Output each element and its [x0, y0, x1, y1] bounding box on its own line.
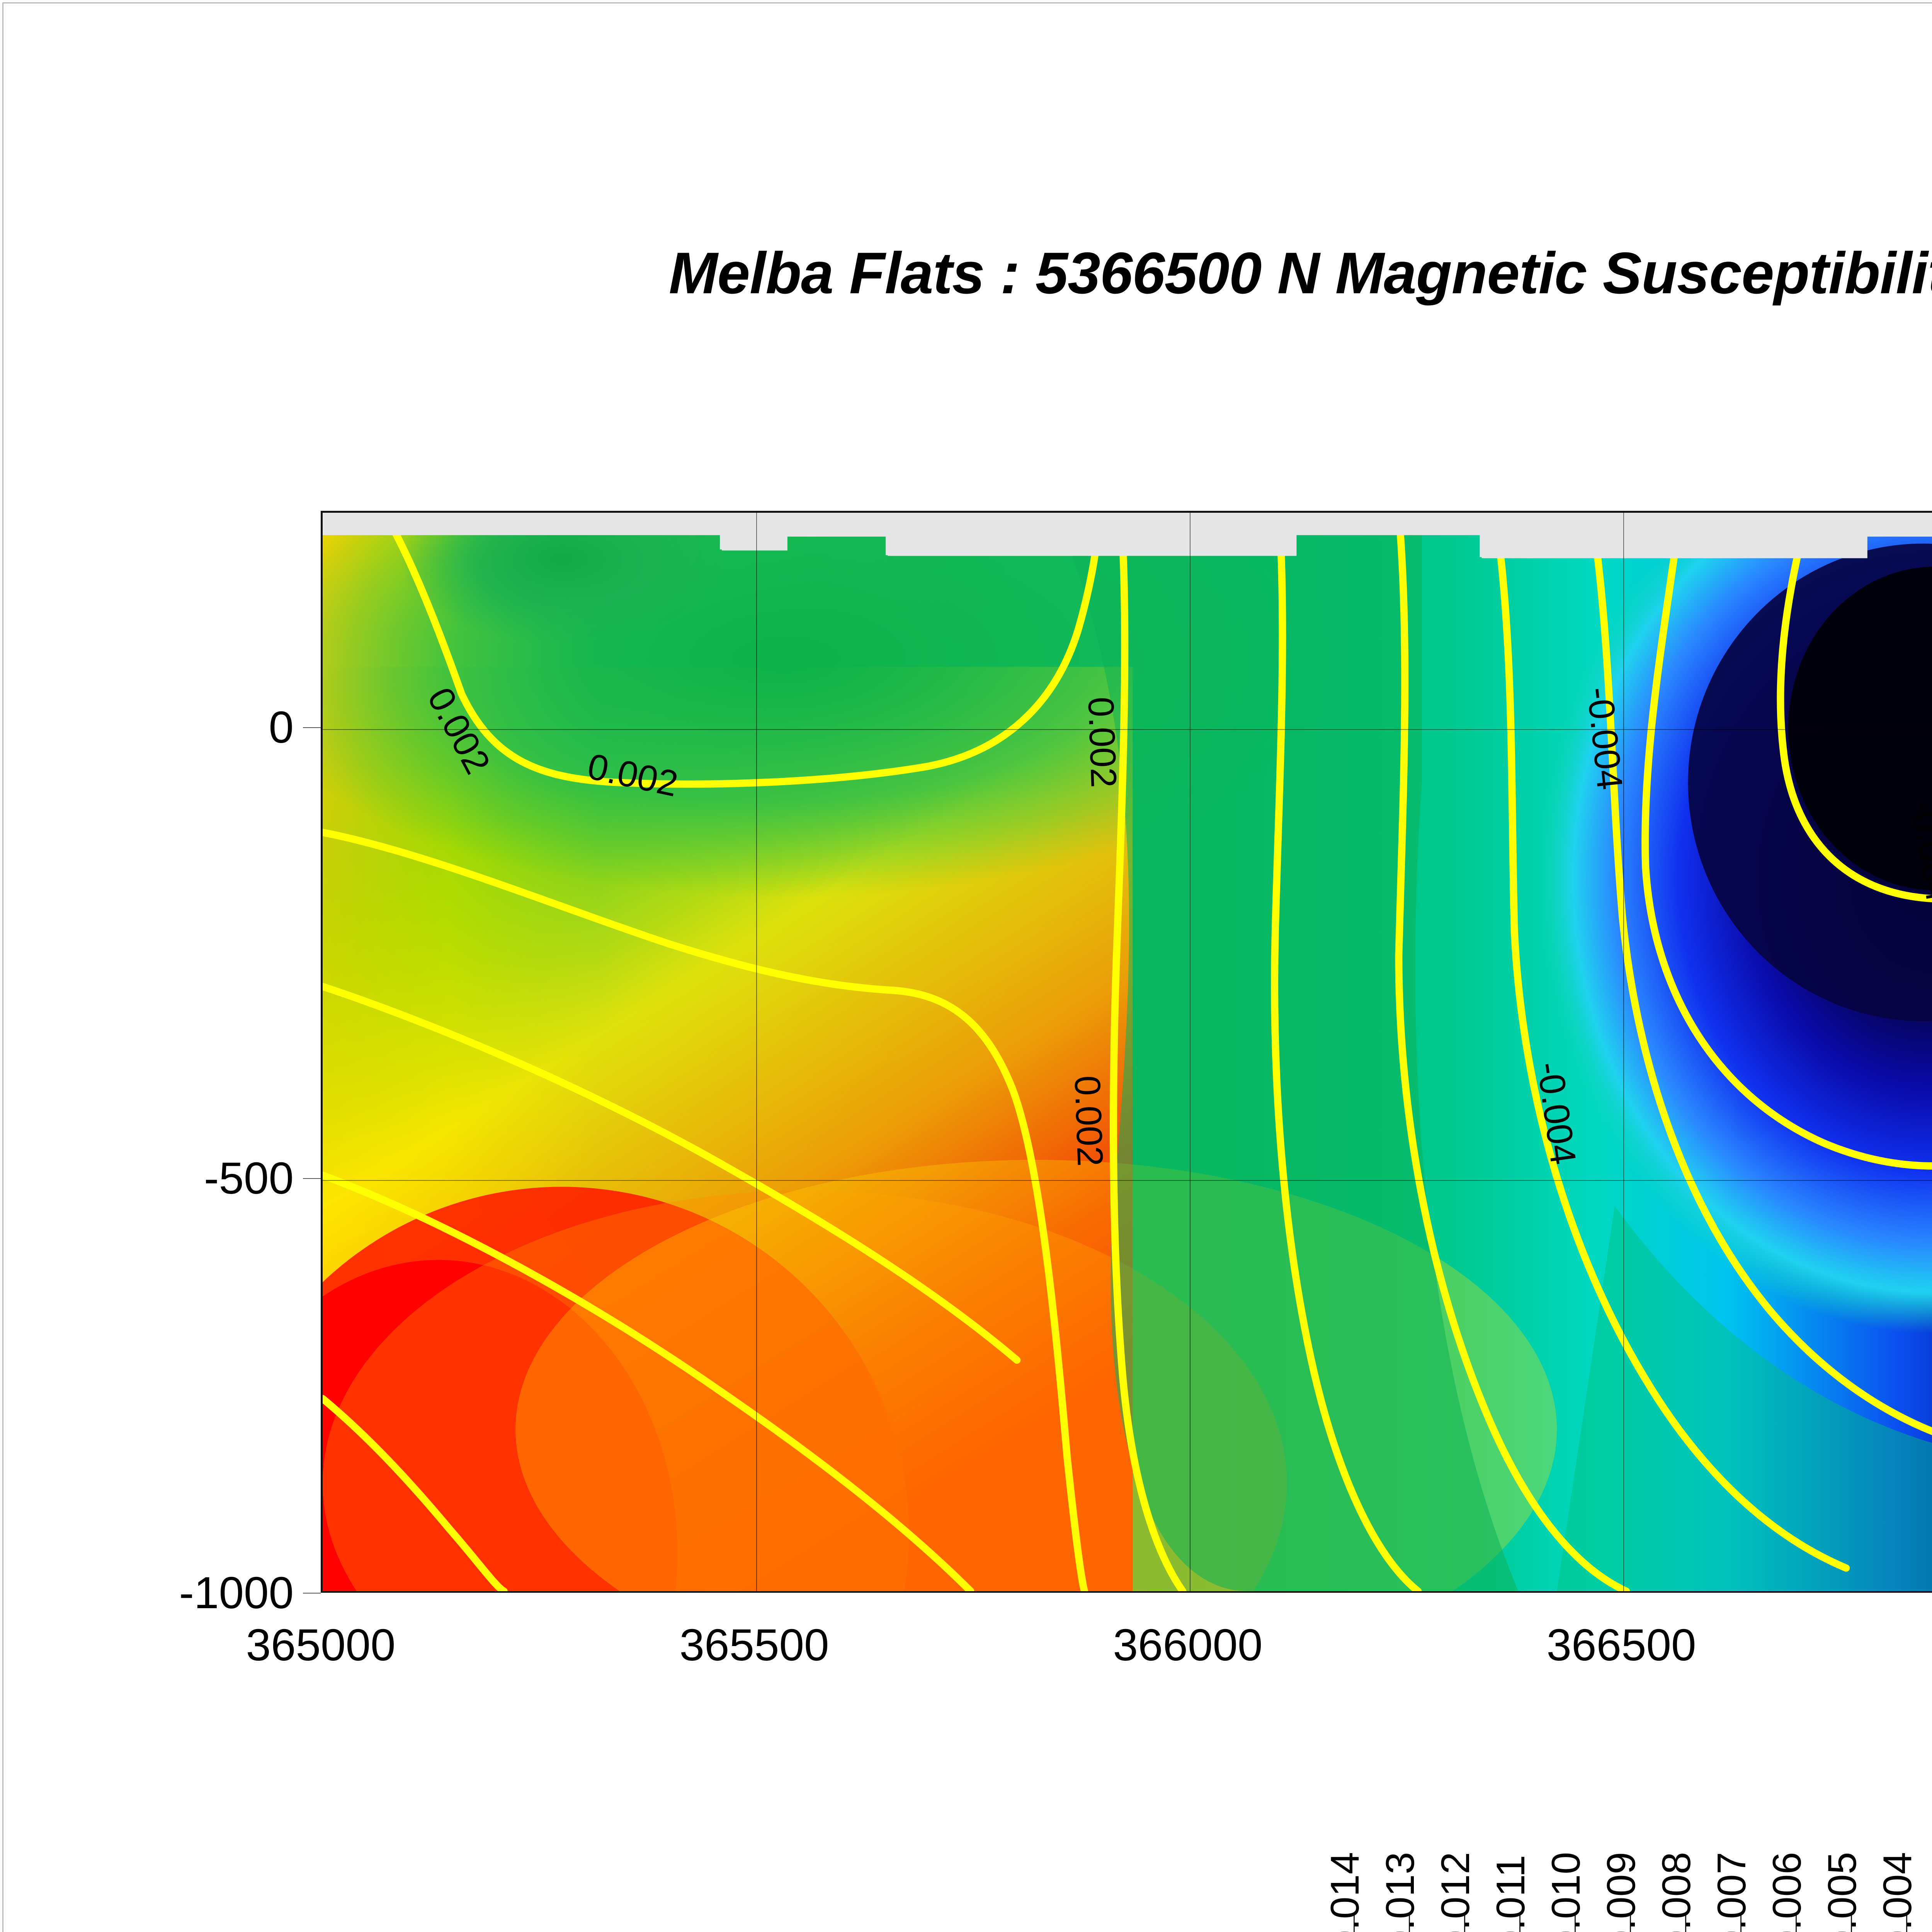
ytick-mark--500 — [303, 1178, 321, 1179]
xtick-label-366000: 366000 — [1113, 1619, 1262, 1671]
colorbar-tick-label: 0.011 — [1488, 1855, 1534, 1932]
ytick-label--500: -500 — [155, 1152, 294, 1204]
xtick-label-365500: 365500 — [679, 1619, 829, 1671]
ytick-mark-0 — [303, 727, 321, 728]
xtick-top-366000 — [1190, 511, 1191, 513]
xtick-label-365000: 365000 — [246, 1619, 395, 1671]
ytick-mark--1000 — [303, 1593, 321, 1594]
colorbar-tick-label: 0.008 — [1654, 1852, 1700, 1932]
colorbar-tick-label: 0.014 — [1322, 1852, 1368, 1932]
topography-no-data-mask — [323, 513, 1932, 1591]
colorbar-tick-label: 0.009 — [1599, 1852, 1645, 1932]
colorbar-tick-label: 0.006 — [1764, 1852, 1810, 1932]
colorbar-tick-label: 0.012 — [1433, 1852, 1479, 1932]
gridline-x-366000 — [1190, 513, 1190, 1591]
gridline-y-0 — [323, 729, 1932, 730]
colorbar-tick-label: 0.013 — [1378, 1852, 1423, 1932]
page-title: Melba Flats : 5366500 N Magnetic Suscept… — [0, 240, 1932, 307]
contour-label: 0.002 — [1066, 1075, 1111, 1167]
colorbar-tick-label: 0.005 — [1820, 1852, 1866, 1932]
colorbar-tick-label: 0.003 — [1930, 1852, 1932, 1932]
xtick-label-366500: 366500 — [1546, 1619, 1696, 1671]
ytick-label--1000: -1000 — [131, 1567, 294, 1619]
contour-section-plot: 0.002 0.002 0.002 0.002 -0.004 -0.004 -0… — [321, 511, 1932, 1593]
contour-label: 0.002 — [1080, 696, 1125, 789]
gridline-x-365500 — [756, 513, 757, 1591]
gridline-x-366500 — [1623, 513, 1624, 1591]
xtick-top-366500 — [1623, 511, 1624, 513]
gridline-y--500 — [323, 1180, 1932, 1181]
ytick-label-0: 0 — [201, 701, 294, 753]
xtick-top-365000 — [323, 511, 324, 513]
colorbar-tick-label: 0.007 — [1709, 1852, 1755, 1932]
colorbar-tick-label: 0.004 — [1875, 1852, 1921, 1932]
colorbar-tick-label: 0.010 — [1543, 1852, 1589, 1932]
xtick-top-365500 — [756, 511, 757, 513]
